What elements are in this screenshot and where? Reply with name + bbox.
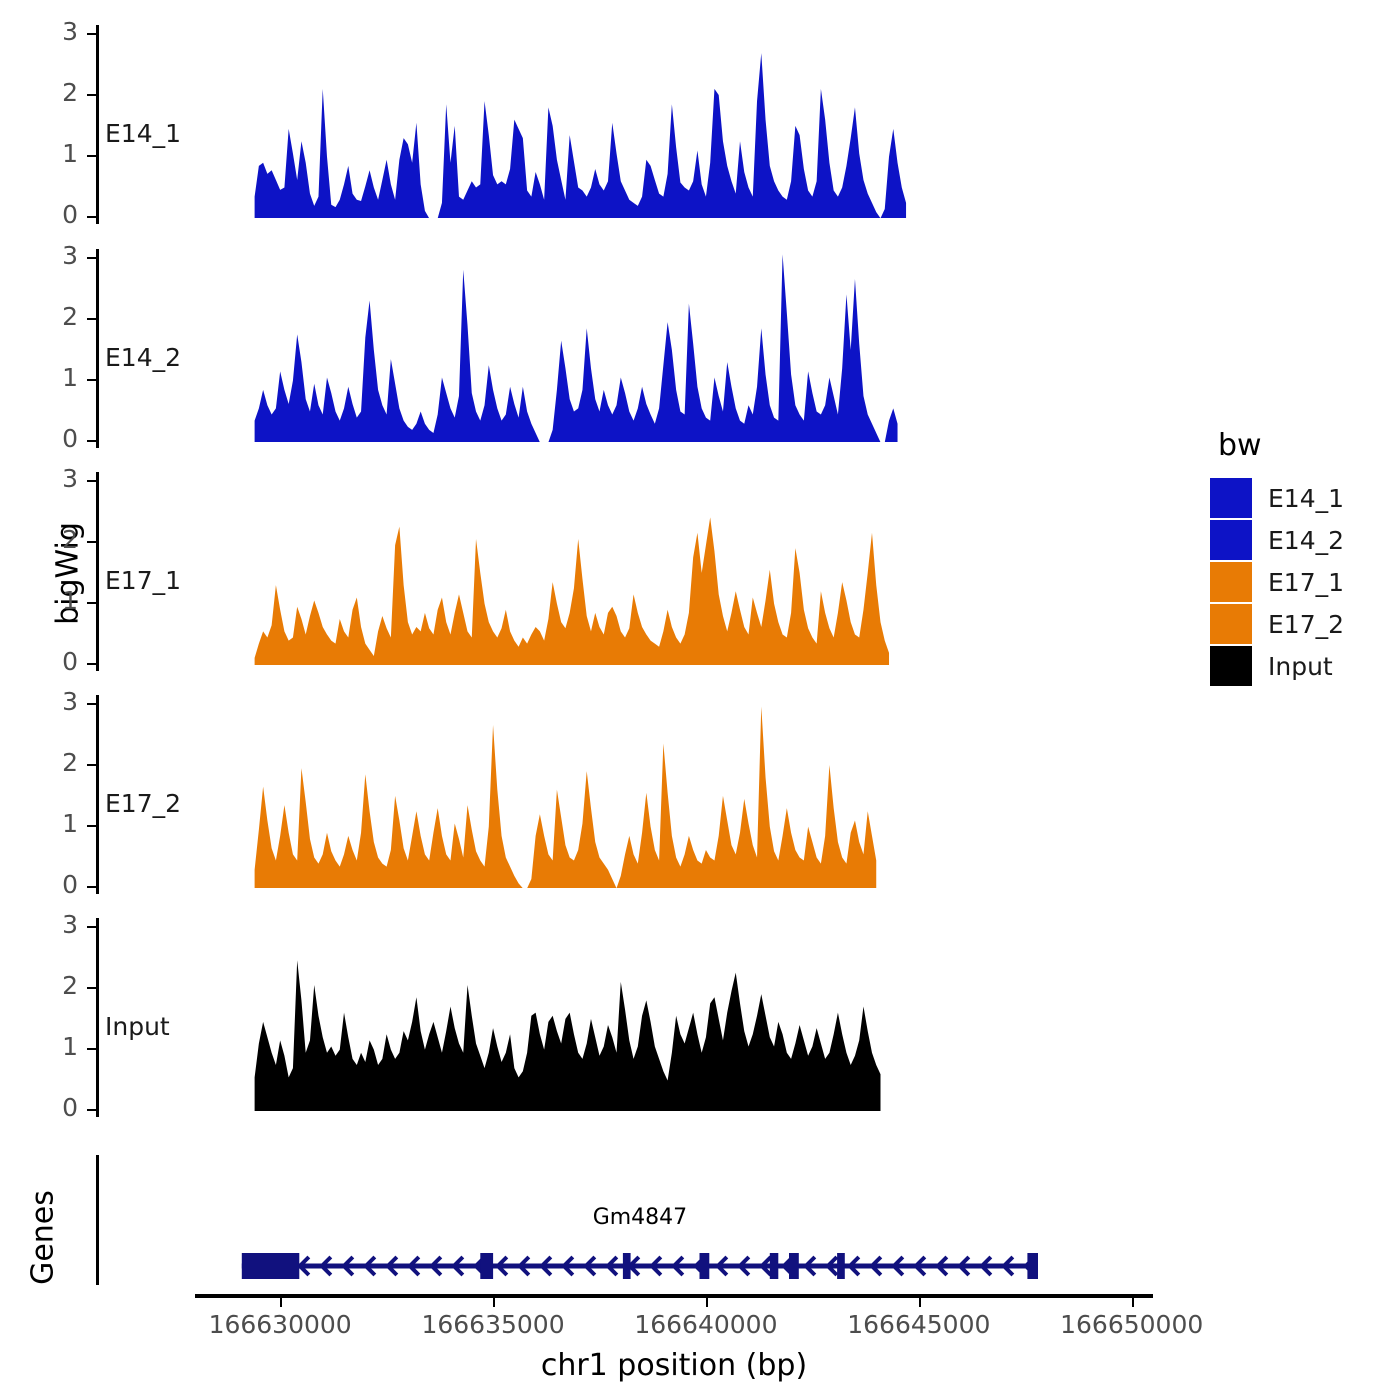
signal-area-e17_1[interactable]: [195, 465, 1153, 665]
legend-items: E14_1E14_2E17_1E17_2Input: [1210, 477, 1344, 687]
y-tick: [87, 216, 96, 218]
x-tick: [493, 1298, 495, 1307]
y-tick: [87, 318, 96, 320]
y-axis-line: [96, 249, 99, 448]
y-tick: [87, 987, 96, 989]
y-tick-label: 0: [18, 424, 78, 453]
y-tick-label: 3: [18, 241, 78, 270]
y-tick: [87, 703, 96, 705]
y-tick: [87, 541, 96, 543]
y-tick: [87, 602, 96, 604]
bigwig-axis-label: bigWig: [51, 494, 86, 654]
x-tick-label: 166640000: [586, 1310, 826, 1339]
y-tick-label: 0: [18, 647, 78, 676]
y-tick-label: 1: [18, 586, 78, 615]
legend-item-label: E17_2: [1268, 610, 1344, 639]
track-strip-label-e14_1: E14_1: [105, 119, 181, 148]
y-tick: [87, 663, 96, 665]
y-tick-label: 3: [18, 464, 78, 493]
legend-item-e17_2[interactable]: E17_2: [1210, 603, 1344, 645]
legend-title: bw: [1218, 428, 1344, 463]
y-tick-label: 1: [18, 363, 78, 392]
legend-item-label: E17_1: [1268, 568, 1344, 597]
x-tick: [280, 1298, 282, 1307]
legend-item-e14_2[interactable]: E14_2: [1210, 519, 1344, 561]
legend-color-swatch: [1210, 646, 1252, 686]
gene-model[interactable]: [0, 1246, 1400, 1286]
track-strip-label-e14_2: E14_2: [105, 343, 181, 372]
y-tick-label: 2: [18, 748, 78, 777]
legend-color-swatch: [1210, 478, 1252, 518]
y-axis-line: [96, 918, 99, 1117]
y-tick: [87, 257, 96, 259]
y-tick-label: 1: [18, 139, 78, 168]
y-tick: [87, 764, 96, 766]
y-tick-label: 2: [18, 78, 78, 107]
y-tick-label: 0: [18, 200, 78, 229]
x-tick-label: 166630000: [160, 1310, 400, 1339]
legend-item-label: E14_2: [1268, 526, 1344, 555]
x-tick: [1132, 1298, 1134, 1307]
legend-item-label: E14_1: [1268, 484, 1344, 513]
signal-area-e14_2[interactable]: [195, 242, 1153, 442]
y-tick-label: 3: [18, 17, 78, 46]
track-strip-label-e17_1: E17_1: [105, 566, 181, 595]
x-tick-label: 166635000: [373, 1310, 613, 1339]
x-tick-label: 166650000: [1012, 1310, 1252, 1339]
y-tick-label: 0: [18, 1093, 78, 1122]
y-tick: [87, 440, 96, 442]
y-tick-label: 2: [18, 525, 78, 554]
legend-item-e14_1[interactable]: E14_1: [1210, 477, 1344, 519]
y-tick-label: 2: [18, 302, 78, 331]
y-axis-line: [96, 25, 99, 224]
legend-item-label: Input: [1268, 652, 1333, 681]
signal-area-input[interactable]: [195, 911, 1153, 1111]
y-tick: [87, 480, 96, 482]
y-tick-label: 3: [18, 910, 78, 939]
x-axis-line: [195, 1294, 1153, 1298]
y-tick: [87, 825, 96, 827]
x-tick: [919, 1298, 921, 1307]
legend-color-swatch: [1210, 562, 1252, 602]
y-tick: [87, 1048, 96, 1050]
y-tick-label: 1: [18, 809, 78, 838]
y-axis-line: [96, 472, 99, 671]
y-tick-label: 2: [18, 971, 78, 1000]
genes-axis-label: Genes: [26, 1158, 61, 1318]
legend-color-swatch: [1210, 604, 1252, 644]
y-tick: [87, 155, 96, 157]
genome-browser-figure: bigWig Genes 0123E14_10123E14_20123E17_1…: [0, 0, 1400, 1400]
track-strip-label-e17_2: E17_2: [105, 789, 181, 818]
track-strip-label-input: Input: [105, 1012, 170, 1041]
y-tick-label: 3: [18, 687, 78, 716]
y-tick: [87, 94, 96, 96]
signal-area-e17_2[interactable]: [195, 688, 1153, 888]
x-tick: [706, 1298, 708, 1307]
y-tick-label: 1: [18, 1032, 78, 1061]
legend-color-swatch: [1210, 520, 1252, 560]
legend-item-input[interactable]: Input: [1210, 645, 1344, 687]
y-tick: [87, 886, 96, 888]
y-tick: [87, 1109, 96, 1111]
gene-label: Gm4847: [520, 1205, 760, 1230]
legend-item-e17_1[interactable]: E17_1: [1210, 561, 1344, 603]
y-tick: [87, 379, 96, 381]
y-tick: [87, 926, 96, 928]
x-axis-title: chr1 position (bp): [195, 1348, 1153, 1383]
signal-area-e14_1[interactable]: [195, 18, 1153, 218]
x-tick-label: 166645000: [799, 1310, 1039, 1339]
y-axis-line: [96, 695, 99, 894]
y-tick-label: 0: [18, 870, 78, 899]
legend: bw E14_1E14_2E17_1E17_2Input: [1210, 428, 1344, 687]
y-tick: [87, 33, 96, 35]
